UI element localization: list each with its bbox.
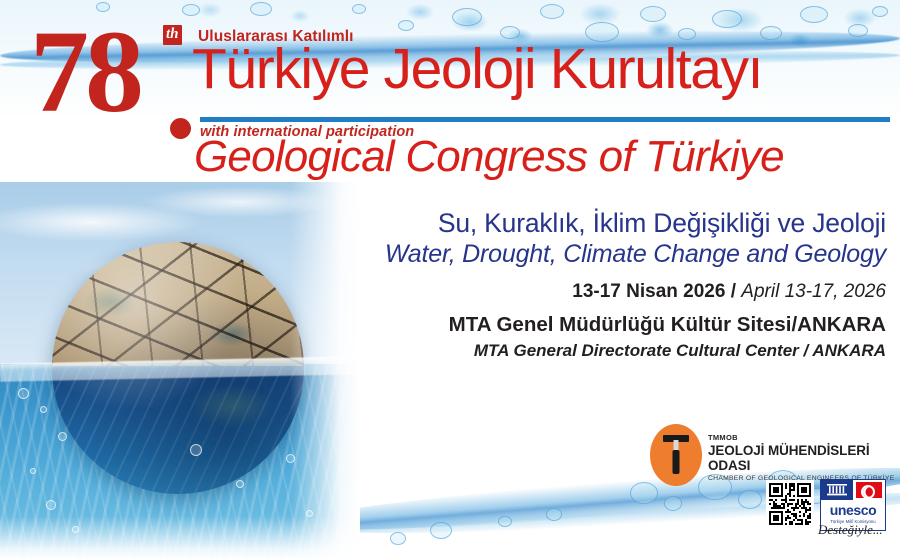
edition-number: 78 [30, 18, 140, 127]
qr-code-modules [769, 483, 811, 525]
bubble [40, 406, 47, 413]
bubble [738, 490, 762, 509]
bubble [30, 468, 36, 474]
venue-tr: MTA Genel Müdürlüğü Kültür Sitesi/ANKARA [266, 313, 886, 338]
date-en: April 13-17, 2026 [741, 281, 886, 302]
tmmob-line-1: TMMOB [708, 433, 900, 442]
date-tr: 13-17 Nisan 2026 [572, 281, 725, 302]
geological-hammer-icon [650, 424, 702, 486]
unesco-logo-top [821, 480, 885, 500]
turkey-flag-icon [853, 480, 885, 500]
edition-ordinal-badge: th [163, 25, 182, 45]
bubble [390, 532, 406, 545]
unesco-wordmark: unesco [821, 503, 885, 517]
support-text: Desteğiyle... [818, 522, 883, 538]
date-separator: / [731, 281, 736, 302]
title-divider [200, 117, 890, 122]
bubble [498, 516, 512, 527]
bubble [190, 444, 202, 456]
tmmob-line-2: JEOLOJİ MÜHENDİSLERİ ODASI [708, 443, 900, 473]
photo-bottom-fade [0, 516, 360, 560]
bubble [58, 432, 67, 441]
qr-code-icon[interactable] [766, 480, 814, 528]
bubble [236, 480, 244, 488]
bubble [46, 500, 56, 510]
bubble [546, 508, 562, 521]
tmmob-text: TMMOB JEOLOJİ MÜHENDİSLERİ ODASI CHAMBER… [708, 433, 900, 482]
tmmob-logo: TMMOB JEOLOJİ MÜHENDİSLERİ ODASI CHAMBER… [650, 424, 900, 486]
bubble [664, 496, 682, 511]
unesco-temple-icon [821, 480, 853, 500]
bubble [430, 522, 452, 539]
headline-block: 78 th Uluslararası Katılımlı Türkiye Jeo… [0, 0, 900, 182]
theme-title-tr: Su, Kuraklık, İklim Değişikliği ve Jeolo… [266, 208, 886, 238]
theme-title-en: Water, Drought, Climate Change and Geolo… [266, 240, 886, 269]
congress-title-en: Geological Congress of Türkiye [194, 135, 784, 179]
congress-title-tr: Türkiye Jeoloji Kurultayı [192, 41, 762, 98]
congress-dates: 13-17 Nisan 2026 / April 13-17, 2026 [266, 281, 886, 304]
venue-en: MTA General Directorate Cultural Center … [266, 341, 886, 361]
congress-info-block: Su, Kuraklık, İklim Değişikliği ve Jeolo… [266, 208, 886, 361]
congress-poster: 78 th Uluslararası Katılımlı Türkiye Jeo… [0, 0, 900, 560]
edition-dot [170, 118, 191, 139]
bubble [18, 388, 29, 399]
